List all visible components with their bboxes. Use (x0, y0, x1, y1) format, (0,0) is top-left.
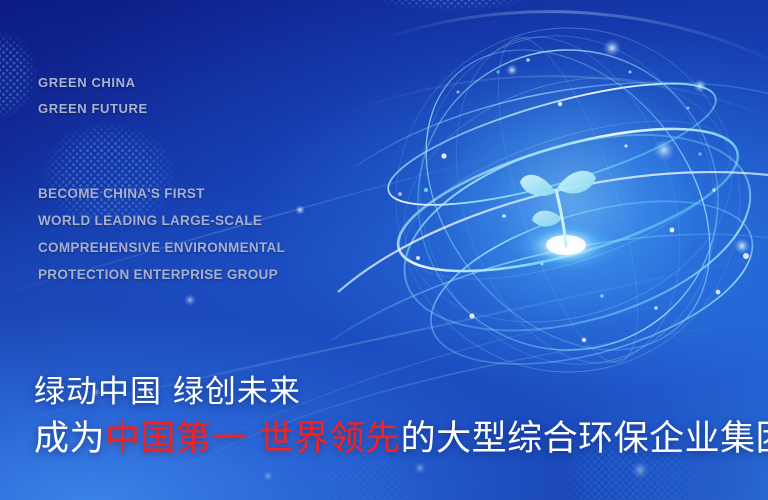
headline-line-1: 绿动中国 绿创未来 (34, 366, 301, 411)
subheading-line-2: WORLD LEADING LARGE-SCALE (38, 213, 262, 228)
subheading-line-3: COMPREHENSIVE ENVIRONMENTAL (38, 240, 285, 255)
eyebrow-line-1: GREEN CHINA (38, 75, 136, 90)
headline-highlight: 中国第一 世界领先 (105, 419, 401, 459)
headline-prefix: 成为 (34, 419, 105, 459)
subheading-line-4: PROTECTION ENTERPRISE GROUP (38, 267, 278, 282)
subheading-line-1: BECOME CHINA'S FIRST (38, 186, 205, 201)
headline-suffix: 的大型综合环保企业集团 (401, 419, 768, 459)
eyebrow-line-2: GREEN FUTURE (38, 101, 148, 116)
seedling-sprout-icon (520, 171, 596, 246)
hero-banner: GREEN CHINA GREEN FUTURE BECOME CHINA'S … (0, 0, 768, 500)
core-glow (514, 220, 618, 272)
globe-halo (360, 20, 768, 380)
headline-line-2: 成为中国第一 世界领先的大型综合环保企业集团 (34, 410, 768, 461)
